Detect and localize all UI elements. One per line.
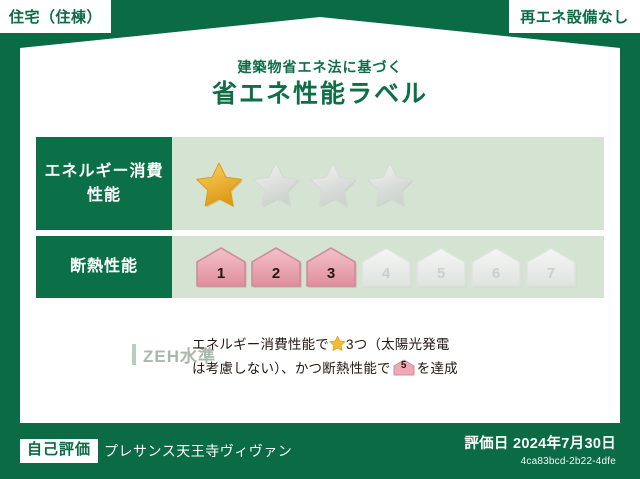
evaluation-date: 評価日 2024年7月30日 xyxy=(464,435,616,454)
insulation-grade-number: 7 xyxy=(547,265,555,289)
insulation-grade-1: 1 xyxy=(194,245,248,289)
insulation-grade-number: 1 xyxy=(217,265,225,289)
footer-left: 自己評価 プレサンス天王寺ヴィヴァン xyxy=(20,439,292,463)
zeh-desc-line1-pre: エネルギー消費性能で xyxy=(192,337,329,352)
title-main: 省エネ性能ラベル xyxy=(0,78,640,112)
title-subtitle: 建築物省エネ法に基づく xyxy=(0,58,640,76)
row-energy-label: エネルギー消費性能 xyxy=(36,137,172,230)
star-icon-empty xyxy=(308,160,358,208)
energy-label-root: 住宅（住棟） 再エネ設備なし 建築物省エネ法に基づく 省エネ性能ラベル エネルギ… xyxy=(0,0,640,479)
evaluation-id: 4ca83bcd-2b22-4dfe xyxy=(464,456,616,467)
row-energy-value xyxy=(172,137,604,230)
self-evaluation-badge: 自己評価 xyxy=(20,439,98,463)
insulation-grade-3: 3 xyxy=(304,245,358,289)
insulation-grade-7: 7 xyxy=(524,245,578,289)
rating-rows: エネルギー消費性能 断熱性能 1234567 xyxy=(36,137,604,304)
page-title: 建築物省エネ法に基づく 省エネ性能ラベル xyxy=(0,58,640,112)
insulation-grade-2: 2 xyxy=(249,245,303,289)
insulation-grade-6: 6 xyxy=(469,245,523,289)
insulation-grade-number: 4 xyxy=(382,265,390,289)
insulation-grade-4: 4 xyxy=(359,245,413,289)
zeh-description: エネルギー消費性能で 3つ（太陽光発電 は考慮しない）、かつ断熱性能で 5 を達… xyxy=(174,333,458,380)
building-name: プレサンス天王寺ヴィヴァン xyxy=(104,441,292,461)
badge-building-type-label: 住宅（住棟） xyxy=(9,6,102,27)
insulation-grade-number: 5 xyxy=(437,265,445,289)
star-rating xyxy=(194,160,415,208)
inline-house-icon: 5 xyxy=(393,359,415,376)
zeh-desc-line2-pre: は考慮しない）、かつ断熱性能で xyxy=(192,361,391,376)
inline-house-number: 5 xyxy=(393,359,415,376)
star-icon-empty xyxy=(365,160,415,208)
inline-star-icon xyxy=(329,335,346,352)
insulation-grade-number: 2 xyxy=(272,265,280,289)
insulation-grade-scale: 1234567 xyxy=(194,245,578,289)
star-icon-filled xyxy=(194,160,244,208)
zeh-desc-line1-post: 3つ（太陽光発電 xyxy=(346,337,450,352)
badge-renewable-energy-label: 再エネ設備なし xyxy=(520,6,629,27)
row-insulation-value: 1234567 xyxy=(172,236,604,298)
label-footer: 自己評価 プレサンス天王寺ヴィヴァン 評価日 2024年7月30日 4ca83b… xyxy=(0,423,640,479)
zeh-indicator: ZEH水準 xyxy=(36,333,174,367)
zeh-note: ZEH水準 エネルギー消費性能で 3つ（太陽光発電 は考慮しない）、かつ断熱性能… xyxy=(36,333,604,380)
insulation-grade-5: 5 xyxy=(414,245,468,289)
zeh-desc-line2-post: を達成 xyxy=(417,361,458,376)
row-insulation-performance: 断熱性能 1234567 xyxy=(36,236,604,298)
insulation-grade-number: 3 xyxy=(327,265,335,289)
star-icon-empty xyxy=(251,160,301,208)
insulation-grade-number: 6 xyxy=(492,265,500,289)
footer-right: 評価日 2024年7月30日 4ca83bcd-2b22-4dfe xyxy=(464,435,620,467)
row-insulation-label: 断熱性能 xyxy=(36,236,172,298)
badge-renewable-energy: 再エネ設備なし xyxy=(509,0,640,33)
zeh-checkbox-icon xyxy=(132,344,136,365)
row-energy-performance: エネルギー消費性能 xyxy=(36,137,604,230)
badge-building-type: 住宅（住棟） xyxy=(0,0,111,33)
